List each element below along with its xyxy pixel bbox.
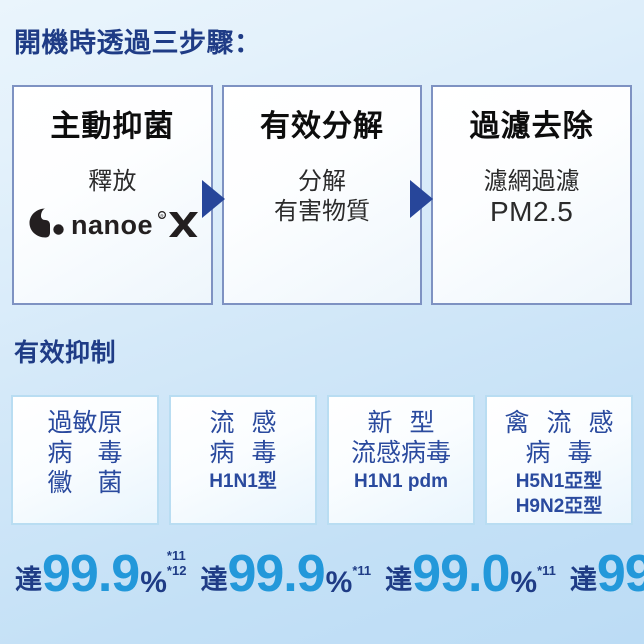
svg-text:nanoe: nanoe bbox=[71, 210, 153, 240]
percent-3-unit: % bbox=[510, 568, 537, 600]
page-title-steps: 開機時透過三步驟： bbox=[14, 26, 262, 60]
card-1-line1: 過敏原 bbox=[47, 408, 122, 438]
card-4-sub2: H9N2亞型 bbox=[516, 496, 603, 518]
card-3-sub1: H1N1 pdm bbox=[354, 471, 448, 493]
card-2-line2: 病 毒 bbox=[205, 438, 282, 468]
step-3-body-line1: 濾網過濾 bbox=[484, 167, 580, 197]
efficacy-percent-row: 達 99.9 % *11 *12 達 99.9 % *11 達 99.0 % *… bbox=[11, 540, 633, 600]
step-box-3: 過濾去除 濾網過濾 PM2.5 bbox=[431, 85, 632, 305]
percent-1-value: 99.9 bbox=[42, 548, 139, 600]
percent-cell-4: 達 99.9 % *11 bbox=[566, 540, 644, 600]
percent-1-prefix: 達 bbox=[15, 567, 42, 600]
efficacy-card-new-influenza: 新 型 流感病毒 H1N1 pdm bbox=[327, 395, 475, 525]
percent-1-unit: % bbox=[140, 568, 167, 600]
step-box-2: 有效分解 分解 有害物質 bbox=[222, 85, 423, 305]
percent-2-unit: % bbox=[326, 568, 353, 600]
card-4-line1: 禽 流 感 bbox=[500, 408, 619, 438]
card-1-line2: 病 毒 bbox=[39, 438, 132, 468]
percent-2-value: 99.9 bbox=[227, 548, 324, 600]
efficacy-card-influenza: 流 感 病 毒 H1N1型 bbox=[169, 395, 317, 525]
percent-3-prefix: 達 bbox=[385, 567, 412, 600]
step-2-body-line2: 有害物質 bbox=[274, 197, 370, 227]
step-2-body: 分解 有害物質 bbox=[274, 167, 370, 227]
card-3-line2: 流感病毒 bbox=[351, 438, 451, 468]
nanoe-x-logo: nanoe R bbox=[14, 203, 211, 243]
step-3-body-line2: PM2.5 bbox=[484, 197, 580, 227]
step-1-body: 釋放 bbox=[88, 167, 136, 197]
percent-2-notes: *11 bbox=[352, 563, 371, 600]
efficacy-cards-row: 過敏原 病 毒 黴 菌 流 感 病 毒 H1N1型 新 型 流感病毒 H1N1 … bbox=[11, 395, 633, 525]
step-2-title: 有效分解 bbox=[260, 109, 384, 145]
efficacy-card-avian-influenza: 禽 流 感 病 毒 H5N1亞型 H9N2亞型 bbox=[485, 395, 633, 525]
card-2-sub1: H1N1型 bbox=[209, 471, 277, 493]
footnote-marker: *11 bbox=[352, 563, 371, 578]
card-2-line1: 流 感 bbox=[205, 408, 282, 438]
footnote-marker: *11 bbox=[537, 563, 556, 578]
percent-cell-1: 達 99.9 % *11 *12 bbox=[11, 540, 186, 600]
step-2-body-line1: 分解 bbox=[274, 167, 370, 197]
percent-4-prefix: 達 bbox=[570, 567, 597, 600]
step-box-1: 主動抑菌 釋放 nanoe R bbox=[12, 85, 213, 305]
steps-row: 主動抑菌 釋放 nanoe R 有效分解 分解 有害物質 bbox=[12, 85, 632, 305]
percent-3-notes: *11 bbox=[537, 563, 556, 600]
card-1-line3: 黴 菌 bbox=[39, 468, 132, 498]
step-3-title: 過濾去除 bbox=[470, 109, 594, 145]
percent-2-prefix: 達 bbox=[200, 567, 227, 600]
card-3-line1: 新 型 bbox=[363, 408, 440, 438]
arrow-right-icon-1 bbox=[202, 180, 225, 218]
percent-3-value: 99.0 bbox=[412, 548, 509, 600]
percent-1-notes: *11 *12 bbox=[167, 548, 187, 600]
step-1-title: 主動抑菌 bbox=[50, 109, 174, 145]
card-4-sub1: H5N1亞型 bbox=[516, 471, 603, 493]
arrow-right-icon-2 bbox=[410, 180, 433, 218]
percent-cell-2: 達 99.9 % *11 bbox=[196, 540, 371, 600]
footnote-marker: *12 bbox=[167, 563, 187, 578]
card-4-line2: 病 毒 bbox=[521, 438, 598, 468]
section-title-effect: 有效抑制 bbox=[14, 337, 116, 369]
percent-4-value: 99.9 bbox=[597, 548, 644, 600]
efficacy-card-allergen: 過敏原 病 毒 黴 菌 bbox=[11, 395, 159, 525]
step-3-body: 濾網過濾 PM2.5 bbox=[484, 167, 580, 227]
footnote-marker: *11 bbox=[167, 548, 186, 563]
percent-cell-3: 達 99.0 % *11 bbox=[381, 540, 556, 600]
step-1-body-line1: 釋放 bbox=[88, 167, 136, 197]
